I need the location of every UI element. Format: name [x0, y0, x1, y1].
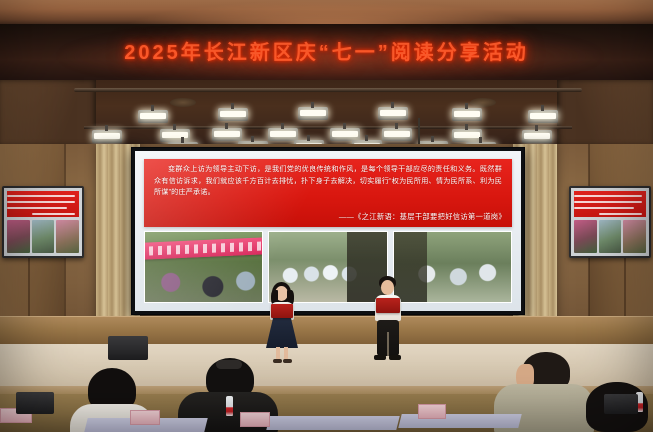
side-monitor-left-photo-strip — [7, 220, 79, 253]
side-monitor-right-photo-strip — [574, 220, 646, 253]
side-monitor-left-text-line — [7, 207, 67, 209]
presenter-male-red-folder — [376, 298, 400, 313]
side-monitor-left-text-line — [7, 195, 75, 197]
presenter-male-shoe — [389, 355, 401, 360]
presenter-male-trouser-split — [387, 332, 389, 356]
main-projection-screen[interactable]: 变群众上访为领导主动下访，是我们党的优良传统和作风，是每个领导干部应尽的责任和义… — [131, 147, 525, 315]
presenter-male-shoe — [374, 355, 386, 360]
side-monitor-photo — [623, 220, 646, 253]
ceiling-vent-right — [470, 98, 496, 107]
stage-lamp — [298, 107, 328, 120]
audience-speaker-box — [16, 392, 54, 414]
stage-lamp — [268, 128, 298, 141]
stage-lamp — [452, 129, 482, 142]
lighting-truss-lower — [84, 126, 572, 129]
stage-speaker-box — [108, 336, 148, 360]
stage-lamp — [212, 128, 242, 141]
stage-lamp — [378, 107, 408, 120]
stage-lamp — [160, 129, 190, 142]
slide-photo-outreach-banner — [144, 231, 263, 303]
audience-table-center — [266, 416, 399, 430]
presenter-female-shoe — [283, 359, 292, 363]
slide-photo-row — [144, 231, 512, 303]
stage-lamp — [522, 130, 552, 143]
side-monitor-photo — [574, 220, 597, 253]
side-monitor-right-text-line — [574, 195, 642, 197]
side-monitor-right-text-line — [574, 201, 642, 203]
side-monitor-left-text-line — [7, 201, 75, 203]
slide-quote-panel: 变群众上访为领导主动下访，是我们党的优良传统和作风，是每个领导干部应尽的责任和义… — [144, 159, 512, 227]
presenter-female — [258, 282, 306, 364]
name-card — [130, 410, 160, 425]
slide-quote-text: 变群众上访为领导主动下访，是我们党的优良传统和作风，是每个领导干部应尽的责任和义… — [154, 164, 502, 199]
stage-lamp — [138, 110, 168, 123]
side-monitor-left-source-line — [32, 213, 75, 215]
lighting-truss-upper — [74, 88, 582, 92]
side-monitor-photo — [32, 220, 55, 253]
ceiling — [0, 0, 653, 26]
stage-lamp — [92, 130, 122, 143]
audience-equipment-box — [604, 394, 638, 414]
main-screen-surface: 变群众上访为领导主动下访，是我们党的优良传统和作风，是每个领导干部应尽的责任和义… — [135, 151, 521, 311]
name-card — [418, 404, 446, 419]
presenter-female-dress — [266, 318, 298, 348]
name-card — [240, 412, 270, 427]
side-monitor-right-text-line — [574, 207, 634, 209]
presenter-male-head — [381, 280, 394, 295]
side-monitor-right[interactable] — [569, 186, 651, 258]
event-banner-title: 2025年长江新区庆“七一”阅读分享活动 — [0, 33, 653, 73]
presenter-male — [364, 276, 412, 366]
stage-lamp — [382, 128, 412, 141]
audience-table-right — [398, 414, 521, 428]
side-monitor-photo — [599, 220, 622, 253]
stage-lamp — [452, 108, 482, 121]
side-monitor-right-source-line — [599, 213, 642, 215]
audience-member-2-hair-clip — [216, 360, 242, 369]
side-monitor-photo — [7, 220, 30, 253]
auditorium-stage-photo: 2025年长江新区庆“七一”阅读分享活动 — [0, 0, 653, 432]
slide-quote-source: ——《之江新语：基层干部要把好信访第一道岗》 — [339, 212, 506, 222]
stage-lamp — [218, 108, 248, 121]
side-monitor-left[interactable] — [2, 186, 84, 258]
ceiling-vent-left — [170, 98, 196, 107]
side-monitor-photo — [56, 220, 79, 253]
water-bottle — [226, 396, 233, 416]
stage-lamp — [528, 110, 558, 123]
wall-wainscot-band — [0, 316, 653, 346]
presenter-female-red-folder — [271, 304, 293, 318]
